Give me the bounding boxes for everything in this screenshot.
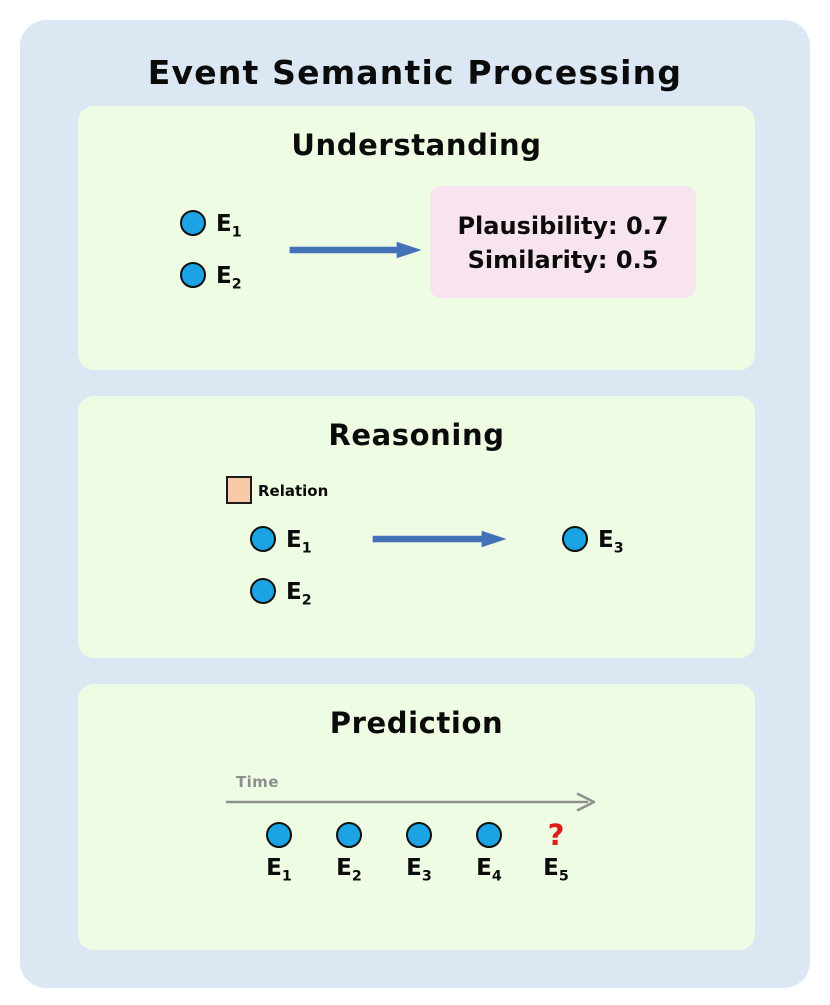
panel-title-understanding: Understanding — [78, 128, 755, 162]
node-label-p-e3-index: 3 — [422, 869, 432, 885]
panel-title-prediction: Prediction — [78, 706, 755, 740]
unknown-event-marker: ? — [540, 821, 572, 850]
node-label-p-e4: E4 — [473, 857, 505, 884]
time-axis-arrow-icon — [226, 792, 606, 812]
node-label-p-e1-text: E — [266, 855, 282, 881]
time-axis-label: Time — [236, 773, 279, 791]
node-label-p-e2-index: 2 — [352, 869, 362, 885]
panel-reasoning: Reasoning Relation E1 E2 E3 — [78, 396, 755, 658]
node-label-p-e5: E5 — [538, 857, 574, 884]
relation-swatch-icon — [226, 476, 252, 504]
node-p-e2 — [336, 822, 362, 848]
node-label-r-e3-text: E — [598, 527, 614, 553]
node-label-r-e1: E1 — [286, 529, 312, 556]
node-p-e1 — [266, 822, 292, 848]
node-label-r-e3-index: 3 — [614, 541, 624, 557]
panel-understanding: Understanding E1 E2 Plausibility: 0.7 Si… — [78, 106, 755, 370]
diagram-frame: Event Semantic Processing Understanding … — [20, 20, 810, 988]
node-label-e2: E2 — [216, 265, 242, 292]
node-label-p-e1-index: 1 — [282, 869, 292, 885]
node-e1 — [180, 210, 206, 236]
panel-prediction: Prediction Time E1 E2 E3 E4 — [78, 684, 755, 950]
node-label-p-e1: E1 — [263, 857, 295, 884]
node-label-r-e1-index: 1 — [302, 541, 312, 557]
node-label-e2-text: E — [216, 263, 232, 289]
inference-arrow-icon — [365, 527, 517, 551]
node-label-p-e5-index: 5 — [559, 869, 569, 885]
metric-plausibility: Plausibility: 0.7 — [430, 212, 696, 240]
node-p-e3 — [406, 822, 432, 848]
node-label-p-e4-text: E — [476, 855, 492, 881]
node-p-e4 — [476, 822, 502, 848]
node-label-p-e2: E2 — [333, 857, 365, 884]
metrics-box: Plausibility: 0.7 Similarity: 0.5 — [430, 186, 696, 298]
node-label-p-e4-index: 4 — [492, 869, 502, 885]
node-label-p-e2-text: E — [336, 855, 352, 881]
node-label-r-e1-text: E — [286, 527, 302, 553]
node-label-e2-index: 2 — [232, 277, 242, 293]
node-e2 — [180, 262, 206, 288]
node-label-e1: E1 — [216, 213, 242, 240]
metric-similarity: Similarity: 0.5 — [430, 246, 696, 274]
node-label-p-e5-text: E — [543, 855, 559, 881]
node-r-e2 — [250, 578, 276, 604]
node-label-r-e2: E2 — [286, 581, 312, 608]
node-label-e1-index: 1 — [232, 225, 242, 241]
node-label-p-e3-text: E — [406, 855, 422, 881]
page-title: Event Semantic Processing — [20, 53, 810, 92]
node-label-r-e2-index: 2 — [302, 593, 312, 609]
panel-title-reasoning: Reasoning — [78, 418, 755, 452]
node-r-e1 — [250, 526, 276, 552]
relation-legend-label: Relation — [258, 484, 328, 499]
diagram-canvas: Event Semantic Processing Understanding … — [0, 0, 830, 1005]
node-label-r-e2-text: E — [286, 579, 302, 605]
node-label-p-e3: E3 — [403, 857, 435, 884]
node-label-e1-text: E — [216, 211, 232, 237]
node-r-e3 — [562, 526, 588, 552]
node-label-r-e3: E3 — [598, 529, 624, 556]
process-arrow-icon — [282, 238, 432, 262]
